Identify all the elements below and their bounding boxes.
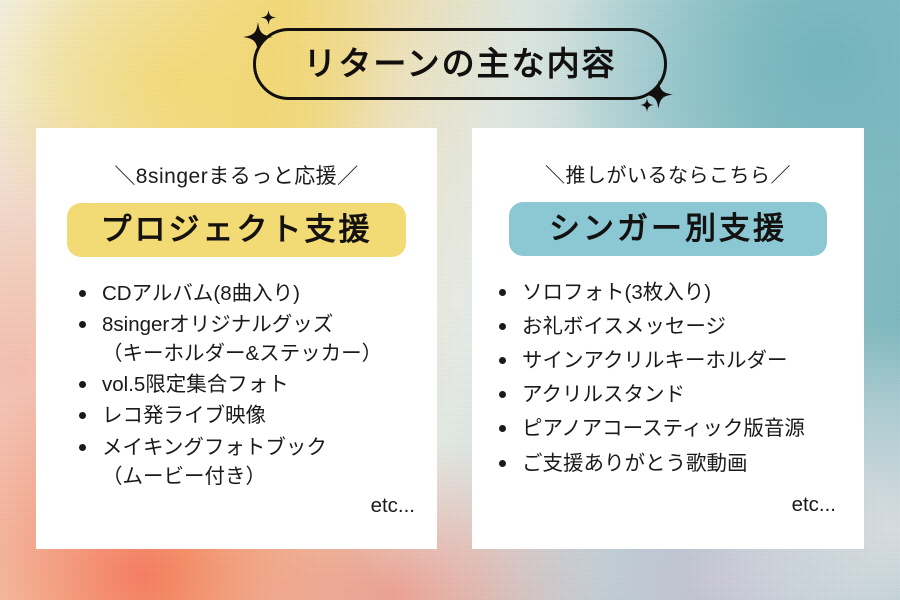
reward-list-project: CDアルバム(8曲入り) 8singerオリジナルグッズ （キーホルダー&ステッ… xyxy=(76,279,423,491)
list-item: レコ発ライブ映像 xyxy=(76,401,423,430)
page-title-banner: リターンの主な内容 xyxy=(253,28,667,100)
poster-canvas: リターンの主な内容 ＼8singerまるっと応援／ プロジェクト支援 CDアルバ… xyxy=(0,0,900,600)
list-item: ピアノアコースティック版音源 xyxy=(496,414,854,443)
list-item: CDアルバム(8曲入り) xyxy=(76,279,423,308)
list-item: アクリルスタンド xyxy=(496,380,854,409)
card-eyebrow: ＼8singerまるっと応援／ xyxy=(36,166,437,187)
list-item: ソロフォト(3枚入り) xyxy=(496,278,854,307)
list-item: 8singerオリジナルグッズ （キーホルダー&ステッカー） xyxy=(76,310,423,368)
badge-singer-support: シンガー別支援 xyxy=(509,202,827,256)
sparkle-small-icon xyxy=(640,98,654,112)
list-item: サインアクリルキーホルダー xyxy=(496,346,854,375)
reward-list-singer: ソロフォト(3枚入り) お礼ボイスメッセージ サインアクリルキーホルダー アクリ… xyxy=(496,278,854,478)
list-item: お礼ボイスメッセージ xyxy=(496,312,854,341)
etc-label: etc... xyxy=(472,492,836,519)
list-item: ご支援ありがとう歌動画 xyxy=(496,449,854,478)
list-item: メイキングフォトブック （ムービー付き） xyxy=(76,433,423,491)
list-item: vol.5限定集合フォト xyxy=(76,370,423,399)
card-eyebrow: ＼推しがいるならこちら／ xyxy=(472,166,864,186)
card-project-support[interactable]: ＼8singerまるっと応援／ プロジェクト支援 CDアルバム(8曲入り) 8s… xyxy=(36,128,437,549)
page-title: リターンの主な内容 xyxy=(303,47,616,80)
sparkle-small-icon xyxy=(261,10,276,25)
badge-project-support: プロジェクト支援 xyxy=(67,203,406,257)
etc-label: etc... xyxy=(36,493,415,520)
card-singer-support[interactable]: ＼推しがいるならこちら／ シンガー別支援 ソロフォト(3枚入り) お礼ボイスメッ… xyxy=(472,128,864,549)
